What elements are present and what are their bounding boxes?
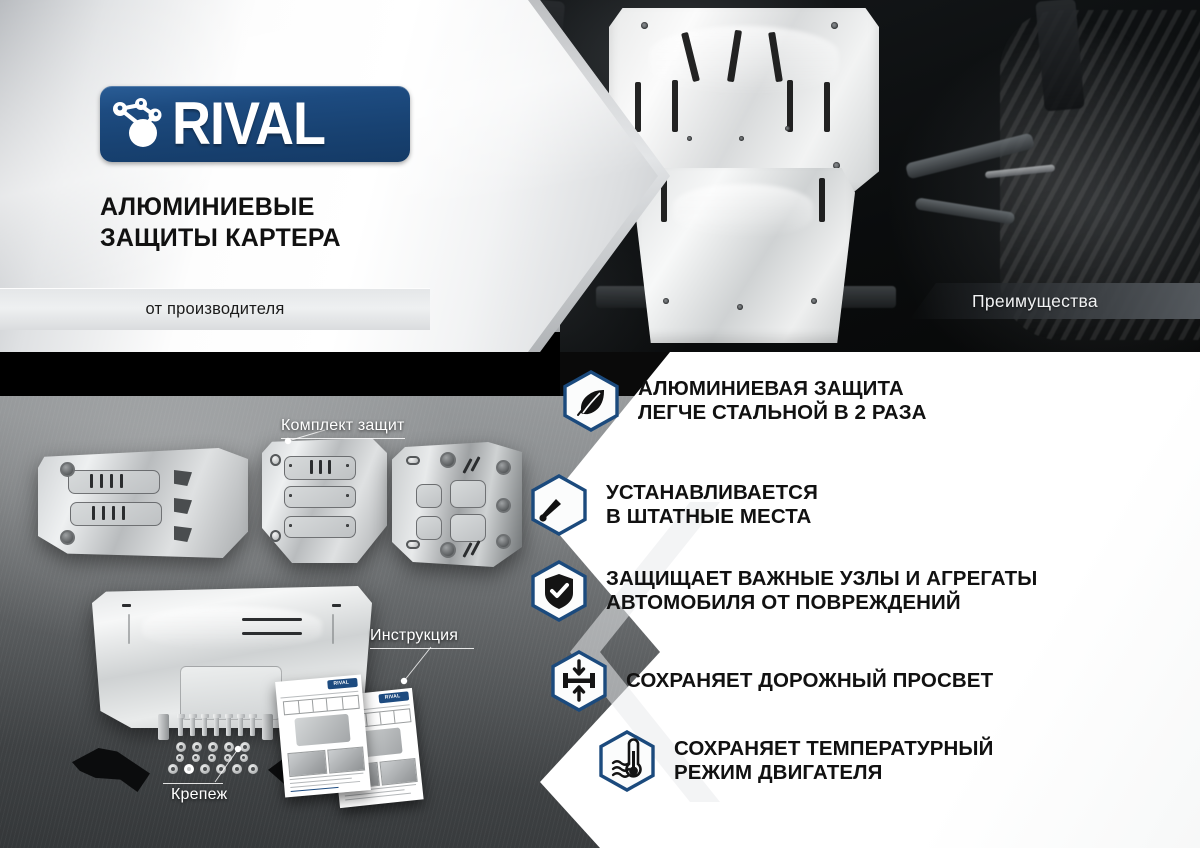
label-manual-rule bbox=[370, 648, 474, 649]
label-kit-rule bbox=[281, 438, 405, 439]
infographic-banner: Преимущества RIVAL АЛЮМИНИЕВЫЕ bbox=[0, 0, 1200, 848]
label-manual: Инструкция bbox=[370, 627, 458, 645]
label-hardware: Крепеж bbox=[171, 786, 227, 804]
kit-leader-line bbox=[0, 0, 1200, 848]
label-kit: Комплект защит bbox=[281, 417, 405, 435]
label-hardware-rule bbox=[163, 783, 223, 784]
